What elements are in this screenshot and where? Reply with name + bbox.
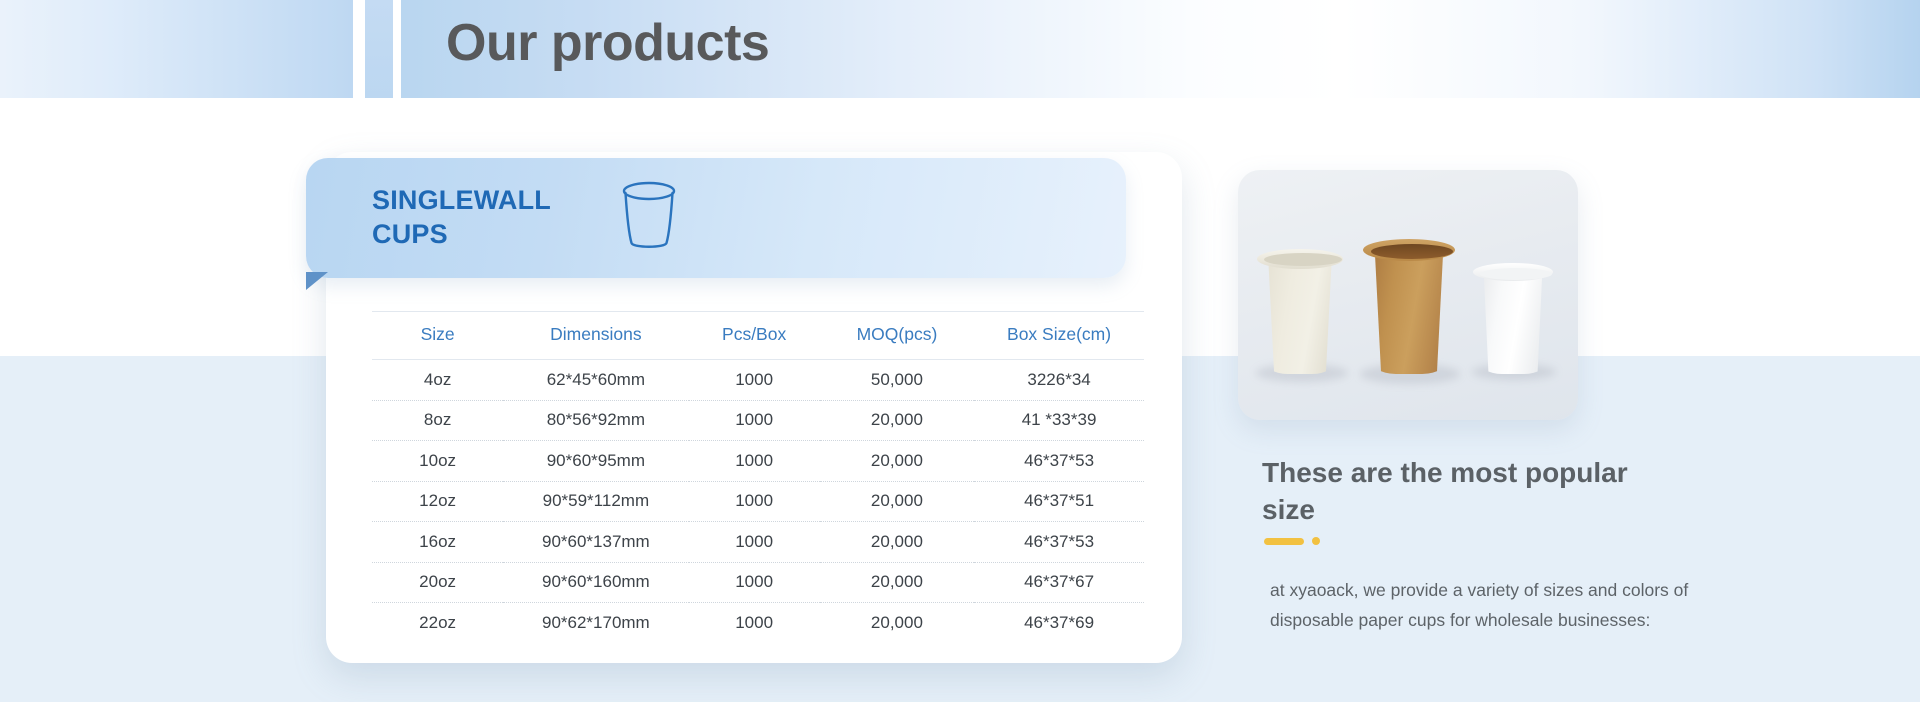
cell-size: 22oz bbox=[372, 603, 503, 643]
table-row: 16oz 90*60*137mm 1000 20,000 46*37*53 bbox=[372, 522, 1144, 563]
cell-size: 16oz bbox=[372, 522, 503, 563]
cell-box-size: 46*37*53 bbox=[974, 522, 1144, 563]
specs-table: Size Dimensions Pcs/Box MOQ(pcs) Box Siz… bbox=[372, 311, 1144, 643]
cell-moq: 20,000 bbox=[820, 522, 974, 563]
table-row: 22oz 90*62*170mm 1000 20,000 46*37*69 bbox=[372, 603, 1144, 643]
cell-pcs-box: 1000 bbox=[689, 562, 820, 603]
paper-cups-photo bbox=[1238, 170, 1578, 420]
accent-dot bbox=[1312, 537, 1320, 545]
cell-dimensions: 62*45*60mm bbox=[503, 360, 688, 401]
cell-dimensions: 90*60*137mm bbox=[503, 522, 688, 563]
accent-decoration bbox=[1264, 537, 1320, 545]
paper-cup-icon bbox=[616, 180, 682, 252]
header-band-left bbox=[0, 0, 353, 98]
cell-pcs-box: 1000 bbox=[689, 522, 820, 563]
accent-dash bbox=[1264, 538, 1304, 545]
cell-box-size: 41 *33*39 bbox=[974, 400, 1144, 441]
table-row: 20oz 90*60*160mm 1000 20,000 46*37*67 bbox=[372, 562, 1144, 603]
cup-kraft bbox=[1368, 246, 1450, 374]
cell-size: 12oz bbox=[372, 481, 503, 522]
product-section: Our products SINGLEWALL CUPS Size Dimens… bbox=[0, 0, 1920, 702]
table-header-row: Size Dimensions Pcs/Box MOQ(pcs) Box Siz… bbox=[372, 312, 1144, 360]
table-row: 8oz 80*56*92mm 1000 20,000 41 *33*39 bbox=[372, 400, 1144, 441]
column-header-pcs-box: Pcs/Box bbox=[689, 312, 820, 360]
cell-pcs-box: 1000 bbox=[689, 400, 820, 441]
cell-moq: 20,000 bbox=[820, 603, 974, 643]
cell-pcs-box: 1000 bbox=[689, 441, 820, 482]
header-band-divider bbox=[365, 0, 393, 98]
cell-box-size: 46*37*67 bbox=[974, 562, 1144, 603]
column-header-dimensions: Dimensions bbox=[503, 312, 688, 360]
right-panel-heading: These are the most popular size bbox=[1262, 455, 1662, 529]
cell-size: 8oz bbox=[372, 400, 503, 441]
cell-dimensions: 90*60*95mm bbox=[503, 441, 688, 482]
cup-cream bbox=[1262, 256, 1338, 374]
cell-moq: 20,000 bbox=[820, 400, 974, 441]
cell-dimensions: 90*62*170mm bbox=[503, 603, 688, 643]
cell-dimensions: 80*56*92mm bbox=[503, 400, 688, 441]
right-panel-body: at xyaoack, we provide a variety of size… bbox=[1270, 575, 1690, 635]
page-title: Our products bbox=[446, 8, 769, 78]
banner-fold-tab bbox=[306, 272, 328, 290]
cell-pcs-box: 1000 bbox=[689, 603, 820, 643]
cup-white bbox=[1478, 270, 1548, 374]
cell-pcs-box: 1000 bbox=[689, 360, 820, 401]
cell-size: 20oz bbox=[372, 562, 503, 603]
cell-size: 10oz bbox=[372, 441, 503, 482]
table-row: 10oz 90*60*95mm 1000 20,000 46*37*53 bbox=[372, 441, 1144, 482]
column-header-moq: MOQ(pcs) bbox=[820, 312, 974, 360]
cell-pcs-box: 1000 bbox=[689, 481, 820, 522]
cell-box-size: 3226*34 bbox=[974, 360, 1144, 401]
column-header-box-size: Box Size(cm) bbox=[974, 312, 1144, 360]
table-row: 4oz 62*45*60mm 1000 50,000 3226*34 bbox=[372, 360, 1144, 401]
banner-title-line1: SINGLEWALL bbox=[372, 184, 551, 218]
column-header-size: Size bbox=[372, 312, 503, 360]
cell-box-size: 46*37*53 bbox=[974, 441, 1144, 482]
cell-box-size: 46*37*51 bbox=[974, 481, 1144, 522]
banner-title-line2: CUPS bbox=[372, 218, 551, 252]
table-row: 12oz 90*59*112mm 1000 20,000 46*37*51 bbox=[372, 481, 1144, 522]
cell-moq: 20,000 bbox=[820, 441, 974, 482]
cell-box-size: 46*37*69 bbox=[974, 603, 1144, 643]
cell-dimensions: 90*60*160mm bbox=[503, 562, 688, 603]
cell-dimensions: 90*59*112mm bbox=[503, 481, 688, 522]
banner-title: SINGLEWALL CUPS bbox=[372, 184, 551, 252]
cell-size: 4oz bbox=[372, 360, 503, 401]
cell-moq: 20,000 bbox=[820, 481, 974, 522]
cell-moq: 20,000 bbox=[820, 562, 974, 603]
cell-moq: 50,000 bbox=[820, 360, 974, 401]
